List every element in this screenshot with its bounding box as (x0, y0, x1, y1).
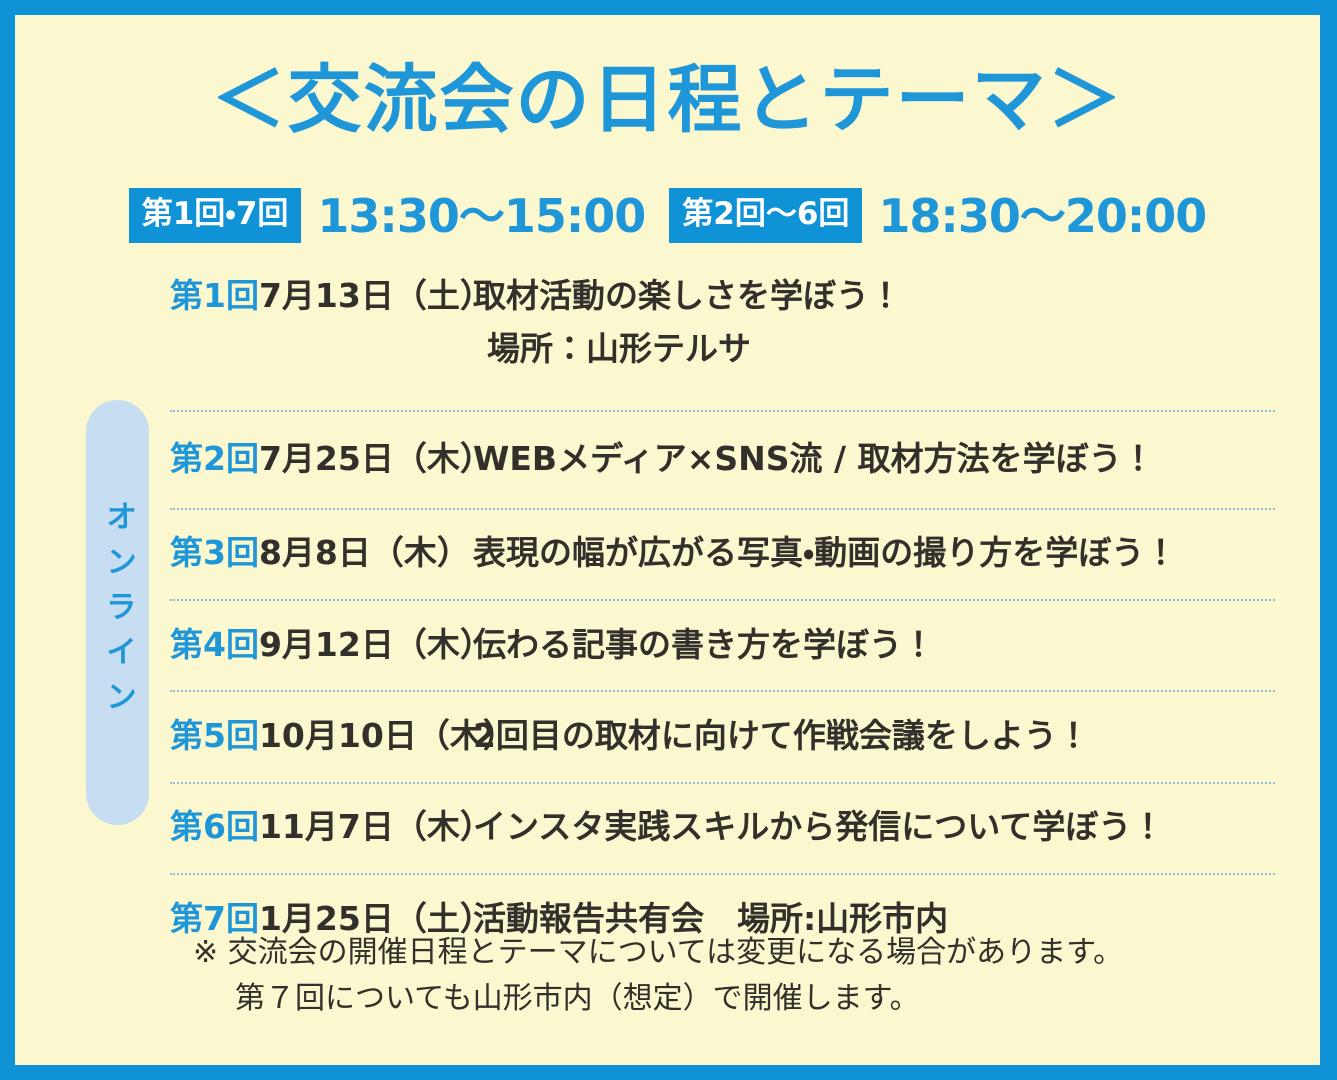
page-title: ＜交流会の日程とテーマ＞ (15, 63, 1320, 137)
session-theme: インスタ実践スキルから発信について学ぼう！ (473, 808, 1275, 847)
session-label: 第5回 (170, 717, 259, 756)
time-group-1: 第1回・7回 13:30〜15:00 (129, 188, 646, 243)
row-divider (170, 508, 1275, 510)
footnote-line-1: ※ 交流会の開催日程とテーマについては変更になる場合があります。 (193, 935, 1123, 970)
session-venue: 場所：山形テルサ (487, 330, 1275, 369)
session-date: 9月12日（木） (259, 626, 473, 665)
session-label: 第1回 (170, 277, 259, 316)
table-row: 第3回 8月8日（木） 表現の幅が広がる写真・動画の撮り方を学ぼう！ (170, 534, 1275, 573)
table-row: 第2回 7月25日（木） WEBメディア×SNS流 / 取材方法を学ぼう！ (170, 440, 1275, 479)
time-badge-sessions-2-6: 第2回〜6回 (669, 188, 862, 243)
row-divider (170, 599, 1275, 601)
time-group-2: 第2回〜6回 18:30〜20:00 (669, 188, 1206, 243)
session-date: 7月13日（土） (259, 277, 473, 316)
session-theme: 表現の幅が広がる写真・動画の撮り方を学ぼう！ (473, 534, 1275, 573)
online-sessions-pill: オンライン (86, 400, 149, 825)
table-row: 第5回 10月10日（木） 2回目の取材に向けて作戦会議をしよう！ (170, 717, 1275, 756)
session-label: 第4回 (170, 626, 259, 665)
session-theme-text: 取材活動の楽しさを学ぼう！ (473, 276, 902, 315)
time-value-1: 13:30〜15:00 (317, 193, 645, 239)
session-date: 8月8日（木） (259, 534, 473, 573)
session-label: 第6回 (170, 808, 259, 847)
footnote-line-2: 第７回についても山形市内（想定）で開催します。 (235, 976, 1123, 1022)
session-theme: 取材活動の楽しさを学ぼう！場所：山形テルサ (473, 277, 1275, 369)
time-value-2: 18:30〜20:00 (878, 193, 1206, 239)
session-label: 第2回 (170, 440, 259, 479)
schedule-list: 第1回 7月13日（土） 取材活動の楽しさを学ぼう！場所：山形テルサ 第2回 7… (170, 277, 1275, 939)
row-divider (170, 410, 1275, 412)
table-row: 第4回 9月12日（木） 伝わる記事の書き方を学ぼう！ (170, 626, 1275, 665)
session-date: 11月7日（木） (259, 808, 473, 847)
session-theme: WEBメディア×SNS流 / 取材方法を学ぼう！ (473, 440, 1275, 479)
footnote: ※ 交流会の開催日程とテーマについては変更になる場合があります。 第７回について… (193, 930, 1123, 1021)
online-label: オンライン (102, 500, 133, 725)
table-row: 第1回 7月13日（土） 取材活動の楽しさを学ぼう！場所：山形テルサ (170, 277, 1275, 369)
session-date: 7月25日（木） (259, 440, 473, 479)
row-divider (170, 873, 1275, 875)
session-date: 10月10日（木） (259, 717, 473, 756)
row-divider (170, 690, 1275, 692)
session-label: 第3回 (170, 534, 259, 573)
session-theme: 2回目の取材に向けて作戦会議をしよう！ (473, 717, 1275, 756)
table-row: 第6回 11月7日（木） インスタ実践スキルから発信について学ぼう！ (170, 808, 1275, 847)
session-theme: 伝わる記事の書き方を学ぼう！ (473, 626, 1275, 665)
row-divider (170, 782, 1275, 784)
time-badge-sessions-1-7: 第1回・7回 (129, 188, 302, 243)
time-badges-row: 第1回・7回 13:30〜15:00 第2回〜6回 18:30〜20:00 (15, 188, 1320, 243)
poster-panel: ＜交流会の日程とテーマ＞ 第1回・7回 13:30〜15:00 第2回〜6回 1… (15, 15, 1320, 1065)
poster-frame: ＜交流会の日程とテーマ＞ 第1回・7回 13:30〜15:00 第2回〜6回 1… (0, 0, 1337, 1080)
